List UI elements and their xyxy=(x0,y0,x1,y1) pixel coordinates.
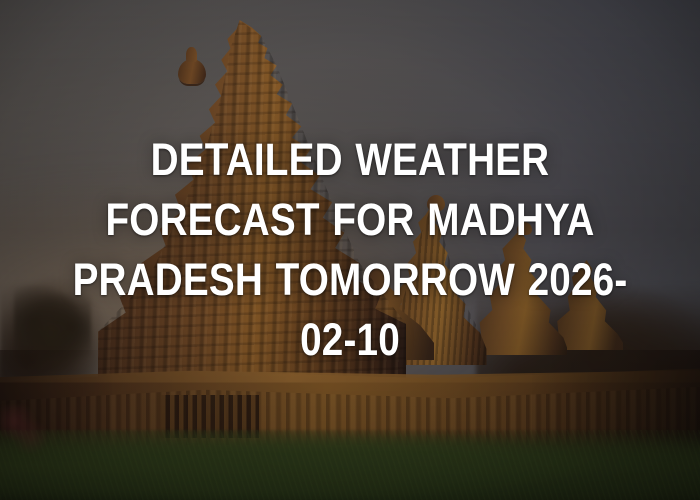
page-title: Detailed Weather Forecast For Madhya Pra… xyxy=(70,130,631,370)
weather-forecast-hero-banner: Detailed Weather Forecast For Madhya Pra… xyxy=(0,0,700,500)
headline-container: Detailed Weather Forecast For Madhya Pra… xyxy=(0,0,700,500)
